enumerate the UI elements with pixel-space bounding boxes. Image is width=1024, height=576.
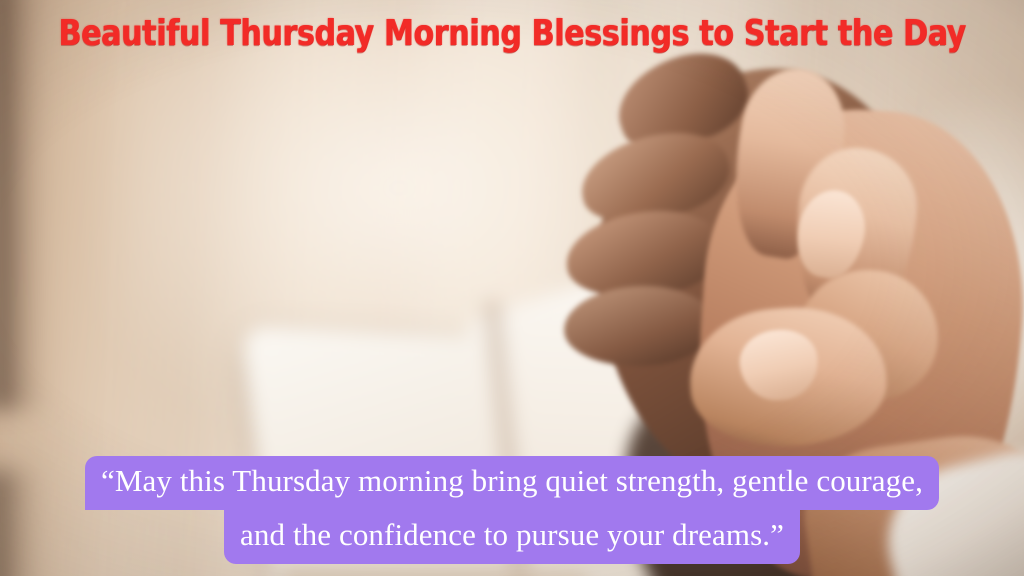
background-photo — [0, 0, 1024, 576]
left-edge-shadow-lower — [0, 470, 40, 576]
poster-canvas: Beautiful Thursday Morning Blessings to … — [0, 0, 1024, 576]
left-edge-shadow — [0, 0, 54, 410]
poster-title: Beautiful Thursday Morning Blessings to … — [41, 14, 983, 54]
clasped-praying-hands — [560, 40, 1024, 576]
